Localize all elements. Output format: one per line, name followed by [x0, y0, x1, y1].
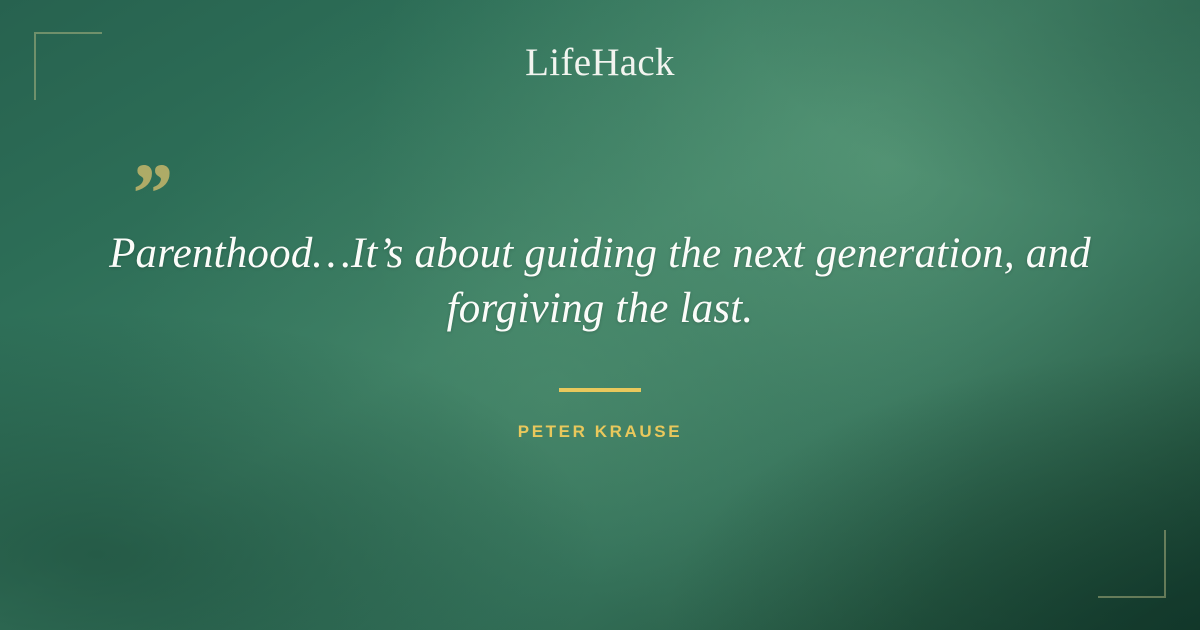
brand-logo: LifeHack: [0, 40, 1200, 85]
quote-content: Parenthood…It’s about guiding the next g…: [100, 226, 1100, 442]
quote-text: Parenthood…It’s about guiding the next g…: [100, 226, 1100, 336]
accent-divider: [559, 388, 641, 392]
author-name: PETER KRAUSE: [100, 422, 1100, 442]
quote-card: LifeHack ” Parenthood…It’s about guiding…: [0, 0, 1200, 630]
quote-line-1: Parenthood…It’s about guiding the next g…: [109, 230, 1091, 277]
quote-line-2: forgiving the last.: [447, 285, 754, 332]
quotation-mark-icon: ”: [128, 150, 171, 236]
